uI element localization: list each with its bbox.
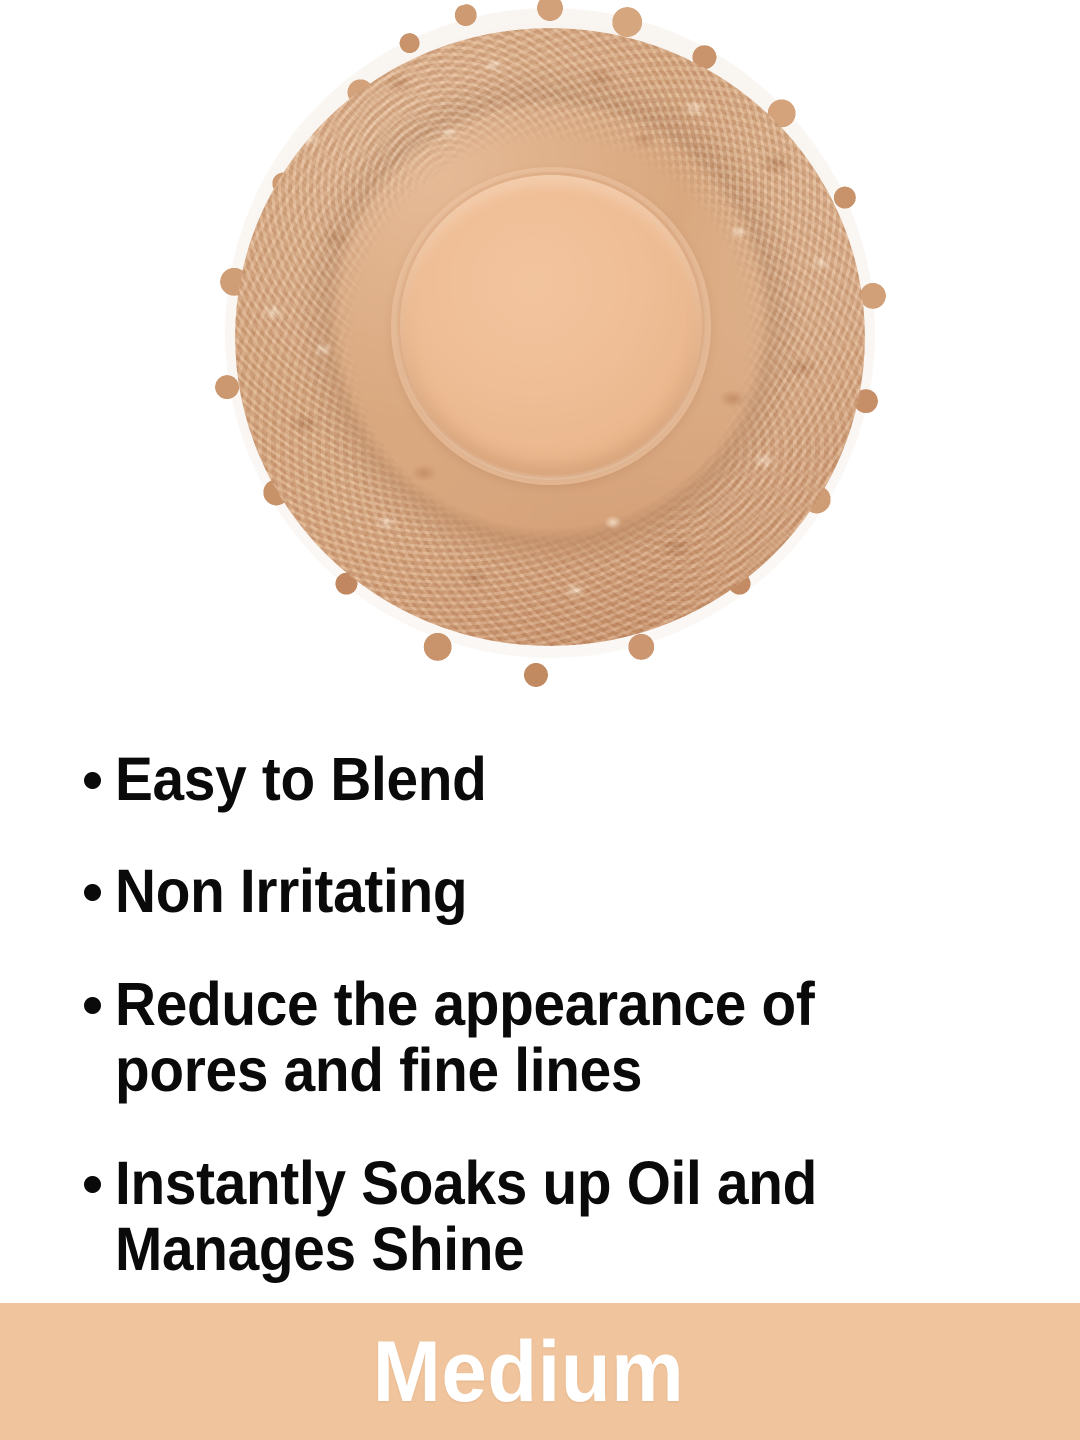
dot-bullet-icon	[84, 772, 101, 789]
list-item: Easy to Blend	[84, 746, 1020, 812]
dot-bullet-icon	[84, 884, 101, 901]
shade-banner: Medium	[0, 1303, 1080, 1440]
feature-list: Easy to Blend Non Irritating Reduce the …	[0, 700, 1080, 1303]
list-item: Non Irritating	[84, 858, 1020, 924]
powder-stage	[205, 0, 895, 690]
feature-label: Easy to Blend	[115, 746, 957, 812]
list-item: Reduce the appearance of pores and fine …	[84, 971, 1020, 1104]
list-item: Instantly Soaks up Oil and Manages Shine	[84, 1150, 1020, 1283]
hero-product-image	[0, 0, 1080, 700]
dot-bullet-icon	[84, 1176, 101, 1193]
feature-label: Non Irritating	[115, 858, 957, 924]
feature-label: Instantly Soaks up Oil and Manages Shine	[115, 1150, 957, 1283]
pressed-powder-disc	[400, 175, 702, 475]
dot-bullet-icon	[84, 997, 101, 1014]
shade-name-label: Medium	[373, 1329, 685, 1415]
feature-label: Reduce the appearance of pores and fine …	[115, 971, 957, 1104]
product-feature-card: Easy to Blend Non Irritating Reduce the …	[0, 0, 1080, 1440]
